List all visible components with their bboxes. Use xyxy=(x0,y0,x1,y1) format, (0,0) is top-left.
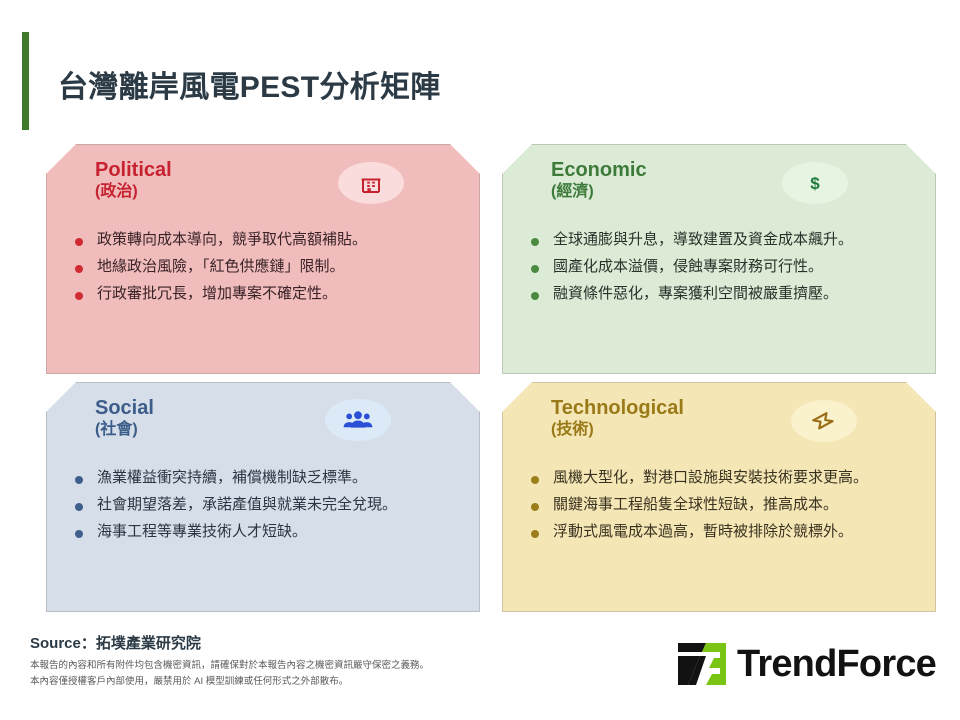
svg-text:$: $ xyxy=(810,174,820,193)
disclaimer-line-1: 本報告的內容和所有附件均包含機密資訊，請確保對於本報告內容之機密資訊嚴守保密之義… xyxy=(30,658,429,674)
list-item: 地緣政治風險，「紅色供應鏈」限制。 xyxy=(75,256,465,279)
bullet-dot-icon xyxy=(75,503,83,511)
bullet-dot-icon xyxy=(531,238,539,246)
list-item: 全球通膨與升息，導致建置及資金成本飆升。 xyxy=(531,229,921,252)
lightning-bolt-icon xyxy=(810,409,838,433)
trendforce-logo: TrendForce xyxy=(676,638,936,690)
dollar-icon: $ xyxy=(805,172,825,194)
bullet-dot-icon xyxy=(75,476,83,484)
quadrant-technological[interactable]: Technological (技術) 風機大型化，對港口設施與安裝技術要求更高。… xyxy=(502,382,936,612)
lightning-bolt-icon-badge xyxy=(791,400,857,442)
quadrant-economic-title-zh: (經濟) xyxy=(551,183,647,202)
bullet-dot-icon xyxy=(531,476,539,484)
quadrant-social-bullets: 漁業權益衝突持續，補償機制缺乏標準。 社會期望落差，承諾產值與就業未完全兌現。 … xyxy=(75,467,465,547)
quadrant-technological-heading: Technological (技術) xyxy=(551,397,684,439)
bullet-dot-icon xyxy=(531,292,539,300)
bullet-dot-icon xyxy=(531,530,539,538)
quadrant-political-title-en: Political xyxy=(95,159,172,183)
bullet-dot-icon xyxy=(531,503,539,511)
quadrant-social-heading: Social (社會) xyxy=(95,397,154,439)
trendforce-logo-text: TrendForce xyxy=(737,643,936,686)
bullet-dot-icon xyxy=(75,238,83,246)
quadrant-political-heading: Political (政治) xyxy=(95,159,172,201)
people-group-icon xyxy=(343,410,373,430)
list-item: 社會期望落差，承諾產值與就業未完全兌現。 xyxy=(75,494,465,517)
quadrant-social-title-en: Social xyxy=(95,397,154,421)
page-footer: Source：拓墣產業研究院 本報告的內容和所有附件均包含機密資訊，請確保對於本… xyxy=(0,620,960,720)
quadrant-economic[interactable]: Economic (經濟) $ 全球通膨與升息，導致建置及資金成本飆升。 國產化… xyxy=(502,144,936,374)
dollar-icon-badge: $ xyxy=(782,162,848,204)
quadrant-social[interactable]: Social (社會) 漁業權益衝突持續，補償機制缺乏標準。 xyxy=(46,382,480,612)
quadrant-economic-bullets: 全球通膨與升息，導致建置及資金成本飆升。 國產化成本溢價，侵蝕專案財務可行性。 … xyxy=(531,229,921,309)
quadrant-technological-title-en: Technological xyxy=(551,397,684,421)
quadrant-social-title-zh: (社會) xyxy=(95,421,154,440)
quadrant-technological-bullets: 風機大型化，對港口設施與安裝技術要求更高。 關鍵海事工程船隻全球性短缺，推高成本… xyxy=(531,467,921,547)
list-item: 海事工程等專業技術人才短缺。 xyxy=(75,521,465,544)
list-item: 融資條件惡化，專案獲利空間被嚴重擠壓。 xyxy=(531,283,921,306)
disclaimer-line-2: 本內容僅授權客戶內部使用，嚴禁用於 AI 模型訓練或任何形式之外部散布。 xyxy=(30,674,429,690)
pest-matrix: Political (政治) 政策轉向成本導向，競爭取代高額補貼。 xyxy=(0,0,960,720)
disclaimer-text: 本報告的內容和所有附件均包含機密資訊，請確保對於本報告內容之機密資訊嚴守保密之義… xyxy=(30,658,429,691)
list-item: 關鍵海事工程船隻全球性短缺，推高成本。 xyxy=(531,494,921,517)
list-item: 漁業權益衝突持續，補償機制缺乏標準。 xyxy=(75,467,465,490)
quadrant-political-title-zh: (政治) xyxy=(95,183,172,202)
building-icon-badge xyxy=(338,162,404,204)
list-item: 行政審批冗長，增加專案不確定性。 xyxy=(75,283,465,306)
bullet-dot-icon xyxy=(75,265,83,273)
quadrant-political[interactable]: Political (政治) 政策轉向成本導向，競爭取代高額補貼。 xyxy=(46,144,480,374)
building-icon xyxy=(358,171,384,195)
source-label: Source：拓墣產業研究院 xyxy=(30,632,201,653)
list-item: 政策轉向成本導向，競爭取代高額補貼。 xyxy=(75,229,465,252)
quadrant-technological-title-zh: (技術) xyxy=(551,421,684,440)
bullet-dot-icon xyxy=(75,530,83,538)
quadrant-economic-heading: Economic (經濟) xyxy=(551,159,647,201)
people-group-icon-badge xyxy=(325,399,391,441)
quadrant-political-bullets: 政策轉向成本導向，競爭取代高額補貼。 地緣政治風險，「紅色供應鏈」限制。 行政審… xyxy=(75,229,465,309)
list-item: 國產化成本溢價，侵蝕專案財務可行性。 xyxy=(531,256,921,279)
list-item: 風機大型化，對港口設施與安裝技術要求更高。 xyxy=(531,467,921,490)
bullet-dot-icon xyxy=(75,292,83,300)
bullet-dot-icon xyxy=(531,265,539,273)
trendforce-logo-mark xyxy=(676,641,728,687)
quadrant-economic-title-en: Economic xyxy=(551,159,647,183)
list-item: 浮動式風電成本過高，暫時被排除於競標外。 xyxy=(531,521,921,544)
